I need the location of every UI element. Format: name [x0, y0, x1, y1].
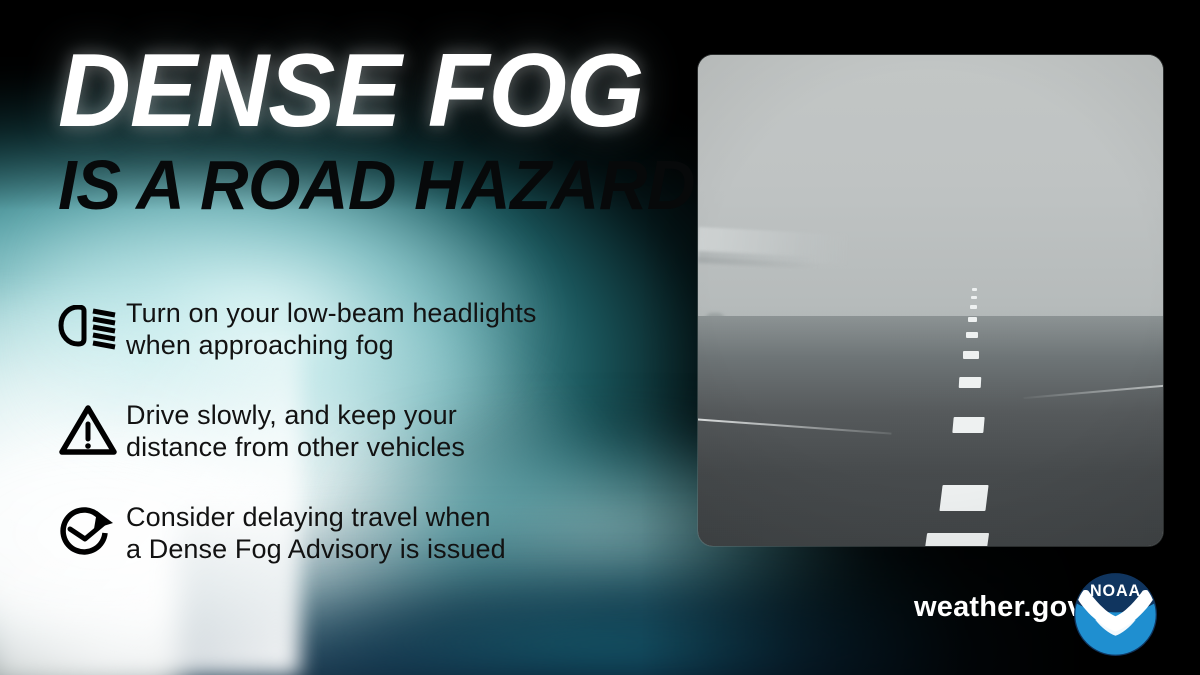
dense-fog-safety-poster: DENSE FOG IS A ROAD HAZARD Turn on — [0, 0, 1200, 675]
page-subtitle: IS A ROAD HAZARD — [58, 150, 672, 220]
headline-block: DENSE FOG IS A ROAD HAZARD — [58, 44, 698, 220]
tip-line-2: a Dense Fog Advisory is issued — [126, 534, 506, 566]
low-beam-headlight-icon — [50, 294, 126, 362]
list-item: Turn on your low-beam headlights when ap… — [50, 294, 650, 362]
tip-line-1: Turn on your low-beam headlights — [126, 298, 536, 328]
tip-line-2: distance from other vehicles — [126, 432, 465, 464]
list-item-text: Drive slowly, and keep your distance fro… — [126, 396, 465, 464]
weather-gov-url[interactable]: weather.gov — [914, 591, 1084, 624]
tip-line-2: when approaching fog — [126, 330, 536, 362]
noaa-logo[interactable]: NOAA — [1073, 572, 1158, 657]
clock-delay-icon — [50, 498, 126, 566]
list-item: Drive slowly, and keep your distance fro… — [50, 396, 650, 464]
list-item: Consider delaying travel when a Dense Fo… — [50, 498, 650, 566]
page-title: DENSE FOG — [58, 44, 679, 140]
tip-line-1: Drive slowly, and keep your — [126, 400, 457, 430]
tip-line-1: Consider delaying travel when — [126, 502, 491, 532]
noaa-logo-text: NOAA — [1090, 582, 1141, 600]
list-item-text: Consider delaying travel when a Dense Fo… — [126, 498, 506, 566]
list-item-text: Turn on your low-beam headlights when ap… — [126, 294, 536, 362]
foggy-road-photo — [698, 55, 1163, 546]
photo-vignette — [698, 55, 1163, 546]
warning-triangle-icon — [50, 396, 126, 464]
safety-tips-list: Turn on your low-beam headlights when ap… — [50, 294, 650, 600]
